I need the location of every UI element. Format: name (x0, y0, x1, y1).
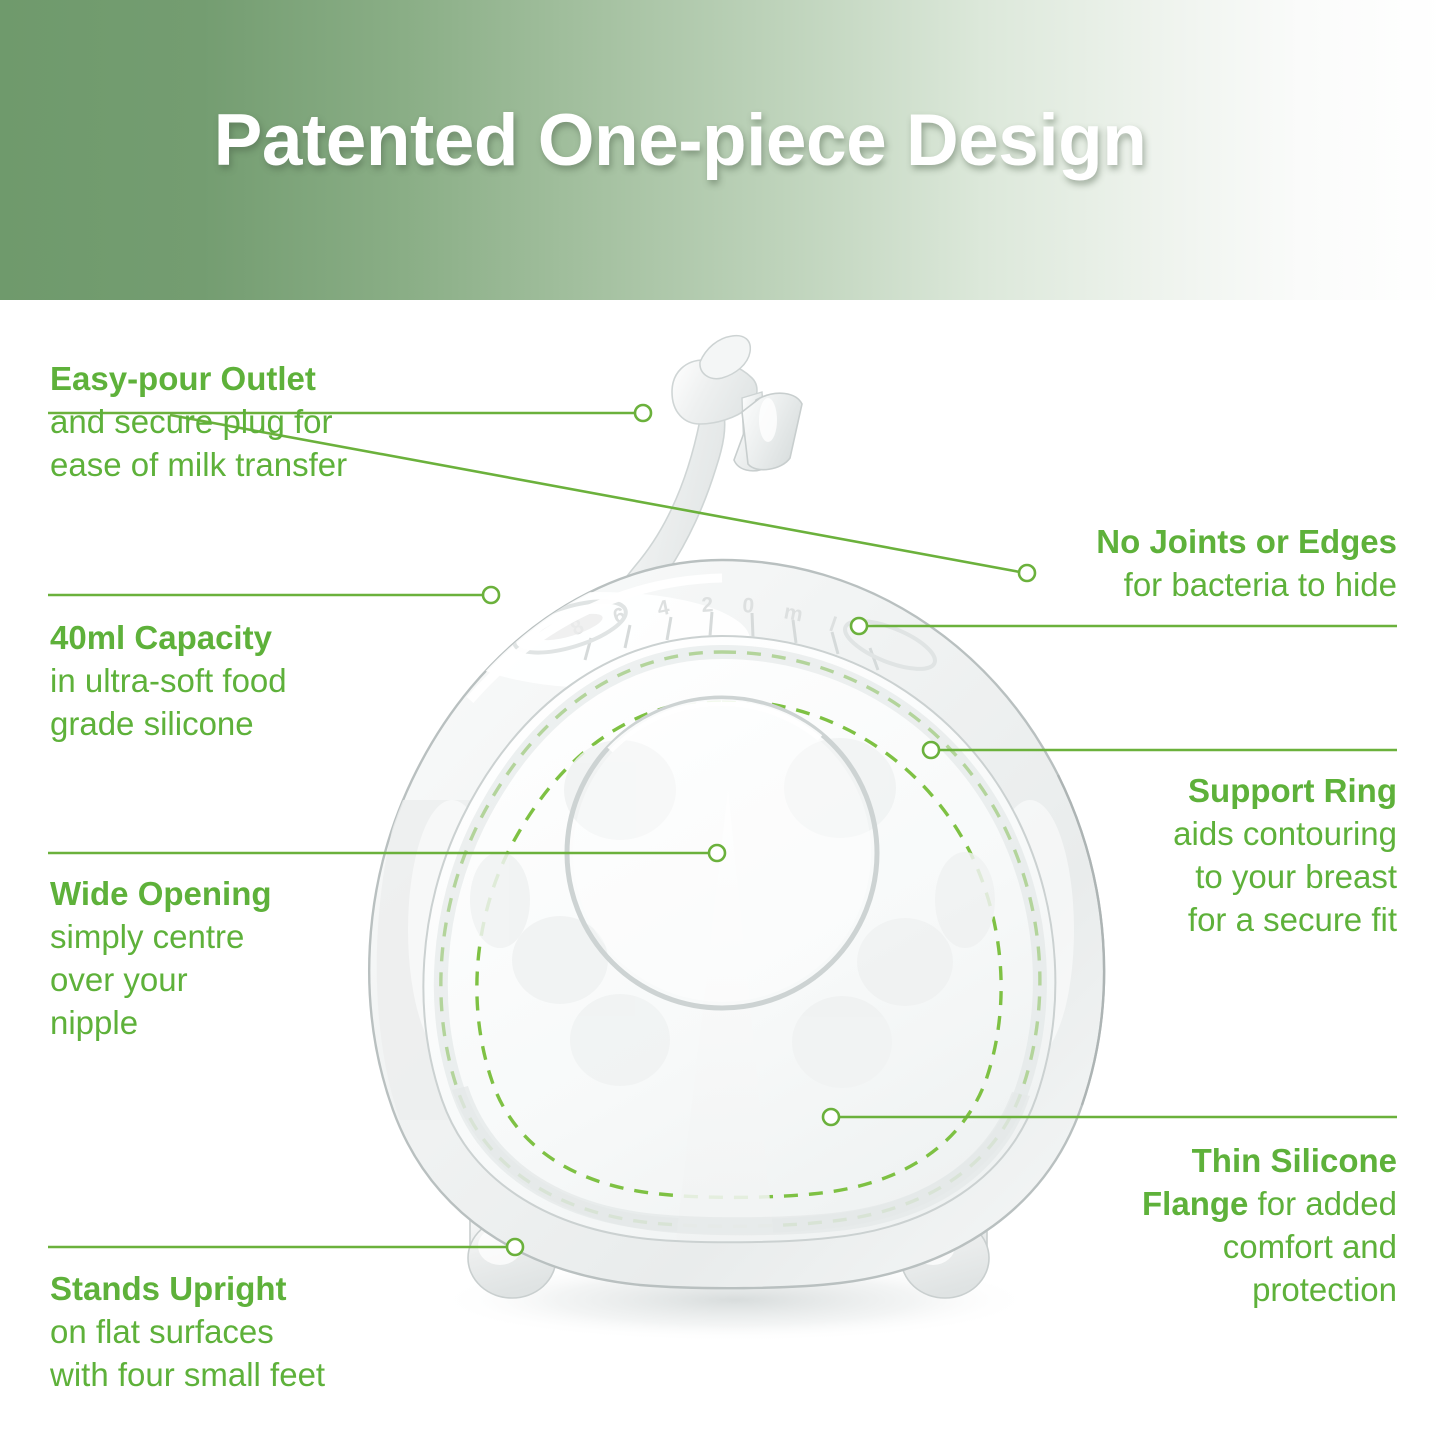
callout-support-ring-line-1: aids contouring (997, 813, 1397, 856)
callout-easy-pour-title: Easy-pour Outlet (50, 360, 316, 397)
infographic-page: Patented One-piece Design (0, 0, 1445, 1445)
callout-stands-upright-line-1: on flat surfaces (50, 1311, 450, 1354)
callout-stands-upright-title: Stands Upright (50, 1270, 287, 1307)
callout-capacity-line-1: in ultra-soft food (50, 660, 450, 703)
callout-thin-flange-line-1: comfort and (997, 1226, 1397, 1269)
callout-thin-flange-line-2: protection (997, 1269, 1397, 1312)
callout-capacity-title: 40ml Capacity (50, 619, 272, 656)
callout-thin-flange-title-2: Flange (1142, 1185, 1248, 1222)
callout-stands-upright-line-2: with four small feet (50, 1354, 450, 1397)
callout-stands-upright: Stands Upright on flat surfaces with fou… (50, 1268, 450, 1397)
callout-thin-flange-trailing: for added (1248, 1185, 1397, 1222)
callout-wide-opening-line-2: over your (50, 959, 380, 1002)
callout-capacity: 40ml Capacity in ultra-soft food grade s… (50, 617, 450, 746)
leader-endpoint-easy-pour-outlet (635, 405, 651, 421)
leader-endpoint-support-ring (923, 742, 939, 758)
callout-easy-pour-line-1: and secure plug for (50, 401, 470, 444)
callout-wide-opening-line-3: nipple (50, 1002, 380, 1045)
leader-endpoint-stands-upright (507, 1239, 523, 1255)
callout-support-ring-title: Support Ring (1188, 772, 1397, 809)
callout-wide-opening-line-1: simply centre (50, 916, 380, 959)
callout-wide-opening-title: Wide Opening (50, 875, 272, 912)
callout-easy-pour-line-2: ease of milk transfer (50, 444, 470, 487)
callout-no-joints-title: No Joints or Edges (1096, 523, 1397, 560)
callout-easy-pour-outlet: Easy-pour Outlet and secure plug for eas… (50, 358, 470, 487)
callout-thin-flange-title-1: Thin Silicone (1192, 1142, 1397, 1179)
leader-endpoint-wide-opening (709, 845, 725, 861)
leader-endpoint-capacity (483, 587, 499, 603)
callout-support-ring-line-3: for a secure fit (997, 899, 1397, 942)
callout-support-ring: Support Ring aids contouring to your bre… (997, 770, 1397, 942)
callout-no-joints-or-edges: No Joints or Edges for bacteria to hide (947, 521, 1397, 607)
callout-thin-silicone-flange: Thin Silicone Flange for added comfort a… (997, 1140, 1397, 1312)
callout-support-ring-line-2: to your breast (997, 856, 1397, 899)
leader-endpoint-no-joints (851, 618, 867, 634)
callout-no-joints-line-1: for bacteria to hide (947, 564, 1397, 607)
callout-capacity-line-2: grade silicone (50, 703, 450, 746)
callout-wide-opening: Wide Opening simply centre over your nip… (50, 873, 380, 1045)
leader-endpoint-thin-flange (823, 1109, 839, 1125)
